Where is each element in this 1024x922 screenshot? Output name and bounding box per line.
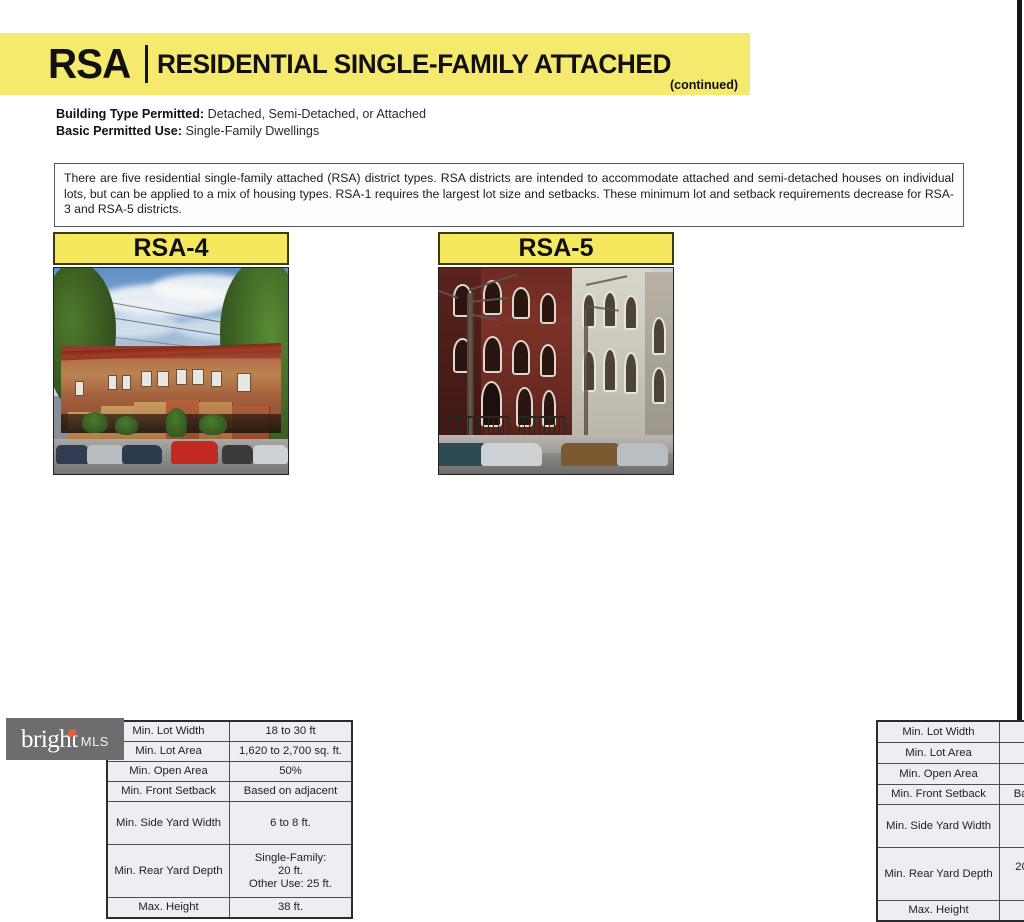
district-block-rsa5: RSA-5	[438, 232, 674, 475]
table-row: Min. Open Area 20 to 30% ▼	[877, 764, 1024, 785]
car	[481, 443, 542, 466]
table-row: Min. Open Area 50%	[107, 762, 352, 782]
arched-window	[540, 344, 556, 377]
shrub	[82, 412, 108, 433]
spec-value: 20 to 30% ▼	[1000, 764, 1024, 785]
iron-railing	[448, 416, 509, 434]
spec-value: 5 ft. ▼	[1000, 805, 1024, 848]
spec-key: Min. Lot Width	[107, 721, 230, 742]
district-block-rsa4: RSA-4	[53, 232, 289, 475]
spec-table-rsa4: Min. Lot Width 18 to 30 ft Min. Lot Area…	[106, 720, 353, 919]
table-row: Max. Height 38 ft.	[877, 901, 1024, 922]
spec-value: 20% of total lot, at least 9 ft.	[1000, 848, 1024, 901]
shrub	[166, 408, 187, 437]
car	[56, 445, 89, 464]
car	[617, 443, 668, 466]
table-row: Min. Lot Area 1,440 sq. ft. ▼	[877, 743, 1024, 764]
spec-value: 6 to 8 ft.	[230, 802, 353, 845]
spec-key: Min. Rear Yard Depth	[107, 845, 230, 898]
spec-key: Min. Rear Yard Depth	[877, 848, 1000, 901]
window	[176, 369, 188, 385]
arched-window	[624, 295, 638, 330]
document-page: RSA RESIDENTIAL SINGLE-FAMILY ATTACHED (…	[0, 0, 1024, 768]
window	[211, 371, 223, 387]
watermark-suffix: MLS	[81, 729, 109, 749]
table-row: Min. Side Yard Width 5 ft. ▼	[877, 805, 1024, 848]
banner-continued-note: (continued)	[670, 78, 738, 92]
table-row: Min. Front Setback Based on adjacent	[877, 785, 1024, 805]
car	[222, 445, 252, 464]
car	[122, 445, 162, 464]
spec-value: 18 to 30 ft	[230, 721, 353, 742]
banner-divider-rule	[145, 45, 148, 83]
table-row: Min. Side Yard Width 6 to 8 ft.	[107, 802, 352, 845]
banner-content: RSA RESIDENTIAL SINGLE-FAMILY ATTACHED	[48, 33, 742, 95]
building-type-label: Building Type Permitted:	[56, 107, 204, 121]
arched-window	[512, 287, 531, 320]
car-red-pickup	[171, 441, 218, 464]
spec-value: 38 ft.	[230, 898, 353, 919]
shrub	[115, 416, 138, 435]
basic-use-value: Single-Family Dwellings	[186, 124, 320, 138]
spec-key: Max. Height	[877, 901, 1000, 922]
car	[87, 445, 124, 464]
arched-window	[652, 317, 666, 354]
basic-use-line: Basic Permitted Use: Single-Family Dwell…	[56, 123, 426, 140]
bare-tree-trunk	[584, 309, 588, 441]
table-row: Min. Lot Area 1,620 to 2,700 sq. ft.	[107, 742, 352, 762]
building-type-value: Detached, Semi-Detached, or Attached	[208, 107, 426, 121]
photo-scene-rsa5	[439, 268, 673, 474]
spec-value: Based on adjacent	[1000, 785, 1024, 805]
shrub	[199, 414, 227, 435]
banner-district-code: RSA	[48, 43, 130, 85]
watermark-wordmark: bright	[21, 727, 78, 752]
section-banner: RSA RESIDENTIAL SINGLE-FAMILY ATTACHED (…	[0, 33, 750, 95]
window	[237, 373, 251, 392]
window	[122, 375, 131, 389]
district-label-rsa4: RSA-4	[53, 232, 289, 265]
district-label-rsa5: RSA-5	[438, 232, 674, 265]
iron-railing	[519, 416, 566, 434]
bright-mls-watermark: bright MLS	[6, 718, 124, 760]
photo-scene-rsa4	[54, 268, 288, 474]
window	[75, 381, 84, 395]
car	[253, 445, 288, 464]
spec-key: Min. Front Setback	[877, 785, 1000, 805]
spec-key: Min. Lot Area	[107, 742, 230, 762]
spec-value: 1,620 to 2,700 sq. ft.	[230, 742, 353, 762]
permitted-summary: Building Type Permitted: Detached, Semi-…	[56, 106, 426, 140]
description-box: There are five residential single-family…	[54, 163, 964, 227]
car	[561, 443, 622, 466]
description-text: There are five residential single-family…	[64, 171, 954, 218]
spec-key: Min. Lot Area	[877, 743, 1000, 764]
arched-window	[512, 340, 531, 375]
spec-value: 1,440 sq. ft. ▼	[1000, 743, 1024, 764]
pale-stone-facade-far	[645, 272, 673, 441]
basic-use-label: Basic Permitted Use:	[56, 124, 182, 138]
building-type-line: Building Type Permitted: Detached, Semi-…	[56, 106, 426, 123]
banner-title: RESIDENTIAL SINGLE-FAMILY ATTACHED	[157, 51, 671, 78]
arched-window	[624, 352, 638, 393]
district-photo-rsa4	[53, 267, 289, 475]
window	[157, 371, 169, 387]
spec-value: 50%	[230, 762, 353, 782]
spec-key: Min. Front Setback	[107, 782, 230, 802]
scan-edge	[1017, 0, 1022, 768]
table-row: Max. Height 38 ft.	[107, 898, 352, 919]
spec-value: 38 ft.	[1000, 901, 1024, 922]
spec-value: Based on adjacent	[230, 782, 353, 802]
table-row: Min. Rear Yard Depth 20% of total lot, a…	[877, 848, 1024, 901]
table-row: Min. Lot Width 18 to 30 ft	[107, 721, 352, 742]
district-photo-rsa5	[438, 267, 674, 475]
arched-window	[540, 293, 556, 324]
window	[141, 371, 153, 387]
table-row: Min. Lot Width 16 ft. ▼	[877, 721, 1024, 743]
table-row: Min. Front Setback Based on adjacent	[107, 782, 352, 802]
spec-table-rsa5: Min. Lot Width 16 ft. ▼ Min. Lot Area 1,…	[876, 720, 1024, 922]
arched-window	[483, 336, 502, 373]
window	[192, 369, 204, 385]
spec-key: Max. Height	[107, 898, 230, 919]
spec-key: Min. Lot Width	[877, 721, 1000, 743]
spec-value: 16 ft. ▼	[1000, 721, 1024, 743]
spec-key: Min. Open Area	[107, 762, 230, 782]
spec-key: Min. Side Yard Width	[107, 802, 230, 845]
arched-window	[652, 367, 666, 404]
arched-window	[603, 348, 617, 391]
spec-value: Single-Family: 20 ft. Other Use: 25 ft.	[230, 845, 353, 898]
table-row: Min. Rear Yard Depth Single-Family: 20 f…	[107, 845, 352, 898]
window	[108, 375, 117, 389]
spec-key: Min. Side Yard Width	[877, 805, 1000, 848]
spec-key: Min. Open Area	[877, 764, 1000, 785]
